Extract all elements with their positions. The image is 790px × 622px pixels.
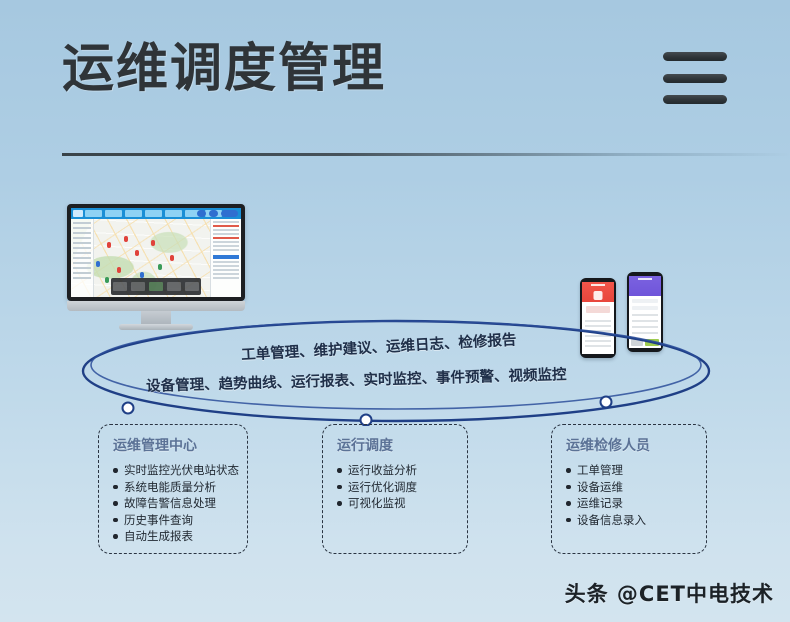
list-item: 运维记录	[564, 495, 694, 512]
list-item: 设备信息录入	[564, 512, 694, 529]
phone-left-card	[586, 306, 610, 313]
list-item: 运行收益分析	[335, 462, 455, 479]
header-divider	[62, 153, 790, 156]
desktop-monitor	[67, 204, 245, 330]
list-item: 故障告警信息处理	[111, 495, 235, 512]
monitor-screen	[71, 208, 241, 297]
dashboard-right-panel	[210, 219, 241, 297]
hamburger-menu-icon[interactable]	[663, 52, 727, 104]
list-item: 可视化监视	[335, 495, 455, 512]
dashboard-left-panel	[71, 219, 94, 297]
hamburger-bar-3	[663, 95, 727, 104]
watermark-text: 头条 @CET中电技术	[565, 578, 774, 608]
list-item: 系统电能质量分析	[111, 479, 235, 496]
info-box-maintenance-staff[interactable]: 运维检修人员 工单管理 设备运维 运维记录 设备信息录入	[551, 424, 707, 554]
list-item: 实时监控光伏电站状态	[111, 462, 235, 479]
list-item: 历史事件查询	[111, 512, 235, 529]
phone-left-header	[582, 282, 614, 302]
page-title: 运维调度管理	[62, 40, 386, 98]
list-item: 设备运维	[564, 479, 694, 496]
box-title: 运行调度	[337, 435, 455, 455]
hamburger-bar-2	[663, 74, 727, 83]
info-box-operations-center[interactable]: 运维管理中心 实时监控光伏电站状态 系统电能质量分析 故障告警信息处理 历史事件…	[98, 424, 248, 554]
slide-canvas: 运维调度管理	[0, 0, 790, 622]
box-item-list: 运行收益分析 运行优化调度 可视化监视	[335, 462, 455, 512]
list-item: 自动生成报表	[111, 528, 235, 545]
monitor-bezel-bottom	[67, 301, 245, 311]
monitor-body	[67, 204, 245, 301]
dashboard-logo-icon	[73, 210, 83, 217]
box-item-list: 实时监控光伏电站状态 系统电能质量分析 故障告警信息处理 历史事件查询 自动生成…	[111, 462, 235, 545]
dashboard-toolbar	[71, 208, 241, 219]
box-title: 运维管理中心	[113, 435, 235, 455]
hamburger-bar-1	[663, 52, 727, 61]
dashboard-status-pills	[197, 210, 238, 217]
phone-right-header	[629, 276, 661, 296]
dashboard-bottom-bar	[111, 278, 201, 295]
box-title: 运维检修人员	[566, 435, 694, 455]
list-item: 运行优化调度	[335, 479, 455, 496]
list-item: 工单管理	[564, 462, 694, 479]
info-box-dispatch[interactable]: 运行调度 运行收益分析 运行优化调度 可视化监视	[322, 424, 468, 554]
box-item-list: 工单管理 设备运维 运维记录 设备信息录入	[564, 462, 694, 528]
